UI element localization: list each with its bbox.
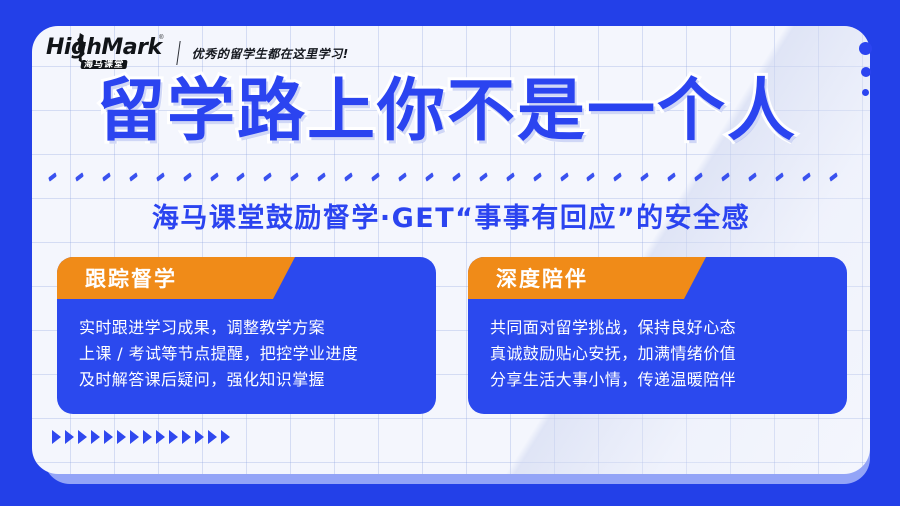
triangle-marker [104, 430, 113, 444]
feature-card-line: 实时跟进学习成果，调整教学方案 [79, 315, 414, 341]
slash-mark [398, 172, 407, 181]
dot-small [862, 89, 869, 96]
slash-mark [667, 172, 676, 181]
triangle-marker [117, 430, 126, 444]
triangle-marker [91, 430, 100, 444]
feature-card-line: 共同面对留学挑战，保持良好心态 [490, 315, 825, 341]
slash-mark [183, 172, 192, 181]
page-title: 留学路上你不是一个人 [32, 78, 862, 146]
slash-mark [829, 172, 838, 181]
feature-card-line: 分享生活大事小情，传递温暖陪伴 [490, 367, 825, 393]
triangle-marker [130, 430, 139, 444]
feature-card-line: 及时解答课后疑问，强化知识掌握 [79, 367, 414, 393]
triangle-marker [195, 430, 204, 444]
slash-mark [641, 172, 650, 181]
slash-mark [237, 172, 246, 181]
poster-canvas: HighMark ® 海马课堂 优秀的留学生都在这里学习! 留学路上你不是一个人… [0, 0, 900, 506]
feature-card-title: 跟踪督学 [85, 263, 177, 293]
triangle-marker [65, 430, 74, 444]
slash-mark [748, 172, 757, 181]
slash-mark [802, 172, 811, 181]
slash-mark [533, 172, 542, 181]
dot-medium [861, 67, 871, 77]
slash-mark [129, 172, 138, 181]
feature-card-body: 实时跟进学习成果，调整教学方案 上课 / 考试等节点提醒，把控学业进度 及时解答… [57, 309, 436, 393]
feature-card-header: 跟踪督学 [57, 257, 295, 299]
feature-card-line: 真诚鼓励贴心安抚，加满情绪价值 [490, 341, 825, 367]
slash-divider [48, 170, 838, 184]
triangle-marker [208, 430, 217, 444]
slash-mark [587, 172, 596, 181]
dot-large [859, 42, 872, 55]
feature-card-line: 上课 / 考试等节点提醒，把控学业进度 [79, 341, 414, 367]
slash-mark [560, 172, 569, 181]
slash-mark [371, 172, 380, 181]
triangle-marker [169, 430, 178, 444]
feature-card-body: 共同面对留学挑战，保持良好心态 真诚鼓励贴心安抚，加满情绪价值 分享生活大事小情… [468, 309, 847, 393]
brand-divider [176, 41, 180, 65]
slash-mark [156, 172, 165, 181]
feature-card-title: 深度陪伴 [496, 263, 588, 293]
slash-mark [425, 172, 434, 181]
slash-mark [452, 172, 461, 181]
slash-mark [614, 172, 623, 181]
triangle-decoration-group [52, 430, 230, 444]
slash-mark [344, 172, 353, 181]
triangle-marker [156, 430, 165, 444]
slash-mark [102, 172, 111, 181]
slash-mark [210, 172, 219, 181]
slash-mark [317, 172, 326, 181]
triangle-marker [52, 430, 61, 444]
brand-row: HighMark ® 海马课堂 优秀的留学生都在这里学习! [46, 36, 349, 70]
logo-registered-icon: ® [159, 35, 163, 41]
slash-mark [264, 172, 273, 181]
feature-card-group: 跟踪督学 实时跟进学习成果，调整教学方案 上课 / 考试等节点提醒，把控学业进度… [57, 257, 847, 414]
triangle-marker [78, 430, 87, 444]
triangle-marker [182, 430, 191, 444]
triangle-marker [143, 430, 152, 444]
logo-chinese-name: 海马课堂 [80, 60, 127, 69]
feature-card: 深度陪伴 共同面对留学挑战，保持良好心态 真诚鼓励贴心安抚，加满情绪价值 分享生… [468, 257, 847, 414]
logo-wordmark: HighMark [46, 37, 162, 59]
slash-mark [479, 172, 488, 181]
triangle-marker [221, 430, 230, 444]
slash-mark [48, 172, 57, 181]
brand-tagline: 优秀的留学生都在这里学习! [192, 45, 349, 62]
feature-card: 跟踪督学 实时跟进学习成果，调整教学方案 上课 / 考试等节点提醒，把控学业进度… [57, 257, 436, 414]
slash-mark [775, 172, 784, 181]
slash-mark [721, 172, 730, 181]
logo: HighMark ® 海马课堂 [46, 37, 162, 69]
slash-mark [291, 172, 300, 181]
feature-card-header: 深度陪伴 [468, 257, 706, 299]
slash-mark [506, 172, 515, 181]
page-subtitle: 海马课堂鼓励督学·GET“事事有回应”的安全感 [32, 196, 870, 235]
slash-mark [75, 172, 84, 181]
slash-mark [694, 172, 703, 181]
